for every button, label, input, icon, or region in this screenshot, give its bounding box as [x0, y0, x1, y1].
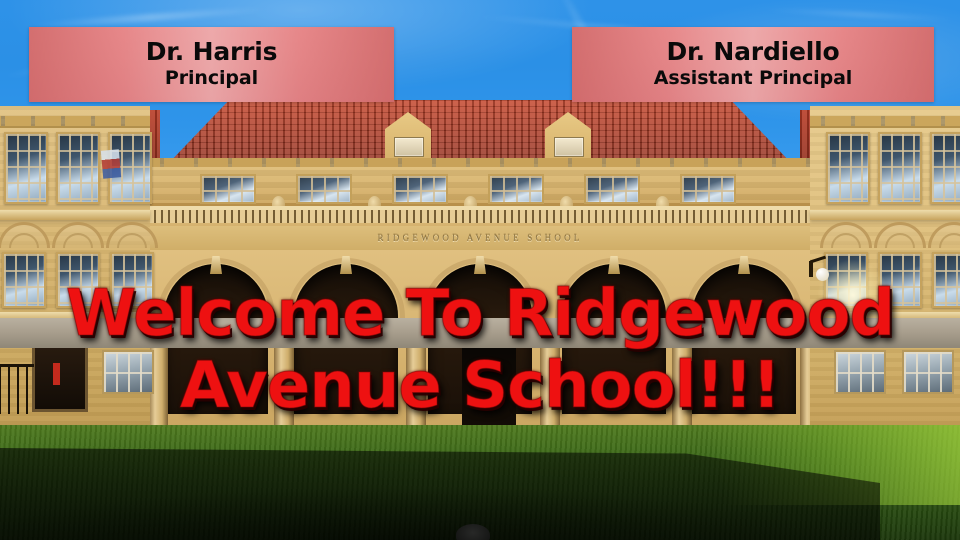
cloud-wisp: [760, 7, 960, 22]
principal-role: Principal: [165, 68, 258, 90]
basement-window: [902, 350, 954, 394]
right-wing-stringcourse: [810, 210, 960, 220]
left-wing-main-window: [110, 252, 154, 308]
attic-window: [296, 174, 352, 204]
left-wing-cornice: [0, 116, 150, 128]
attic-window: [584, 174, 640, 204]
right-wing-upper-window: [930, 132, 960, 204]
stone-balustrade: [140, 206, 820, 228]
left-wing-upper-window: [56, 132, 100, 204]
left-wing-upper-window: [4, 132, 48, 204]
right-wing-main-window: [932, 252, 960, 308]
entablature-frieze: RIDGEWOOD AVENUE SCHOOL: [140, 226, 820, 252]
building-left-wing: [0, 106, 150, 440]
left-wing-main-window: [56, 252, 100, 308]
arcade-column: [540, 340, 560, 426]
slide-canvas: RIDGEWOOD AVENUE SCHOOL: [0, 0, 960, 540]
right-wing-main-window: [878, 252, 922, 308]
attic-window: [392, 174, 448, 204]
wall-lamp-icon: [804, 258, 830, 286]
principal-name-plate: Dr. Harris Principal: [29, 27, 394, 102]
cornice-modillions: [150, 158, 810, 167]
attic-window: [488, 174, 544, 204]
left-wing-main-window: [2, 252, 46, 308]
right-wing-upper-window: [826, 132, 870, 204]
building-right-wing: [810, 106, 960, 440]
assistant-principal-role: Assistant Principal: [654, 68, 852, 90]
stair-railing: [0, 364, 34, 414]
assistant-principal-name-plate: Dr. Nardiello Assistant Principal: [572, 27, 934, 102]
basement-window: [834, 350, 886, 394]
school-building-photo: RIDGEWOOD AVENUE SCHOOL: [0, 100, 960, 440]
arcade-column: [406, 340, 426, 426]
terracotta-tile-roof: [150, 100, 810, 162]
right-wing-cornice: [810, 116, 960, 128]
right-wing-main-window: [824, 252, 868, 308]
arcade-column: [274, 340, 294, 426]
basement-window: [102, 350, 154, 394]
arcade-column: [672, 340, 692, 426]
left-wing-service-door: [32, 338, 88, 412]
assistant-principal-name: Dr. Nardiello: [667, 39, 840, 65]
principal-name: Dr. Harris: [146, 39, 278, 65]
foreground-object: [456, 524, 490, 540]
classroom-flag: [101, 149, 121, 178]
cloud-wisp: [30, 6, 270, 30]
right-wing-upper-window: [878, 132, 922, 204]
concrete-sidewalk: [0, 318, 960, 348]
attic-window: [680, 174, 736, 204]
attic-window: [200, 174, 256, 204]
front-lawn: [0, 425, 960, 540]
building-engraved-name: RIDGEWOOD AVENUE SCHOOL: [378, 233, 583, 243]
left-wing-stringcourse: [0, 210, 150, 220]
